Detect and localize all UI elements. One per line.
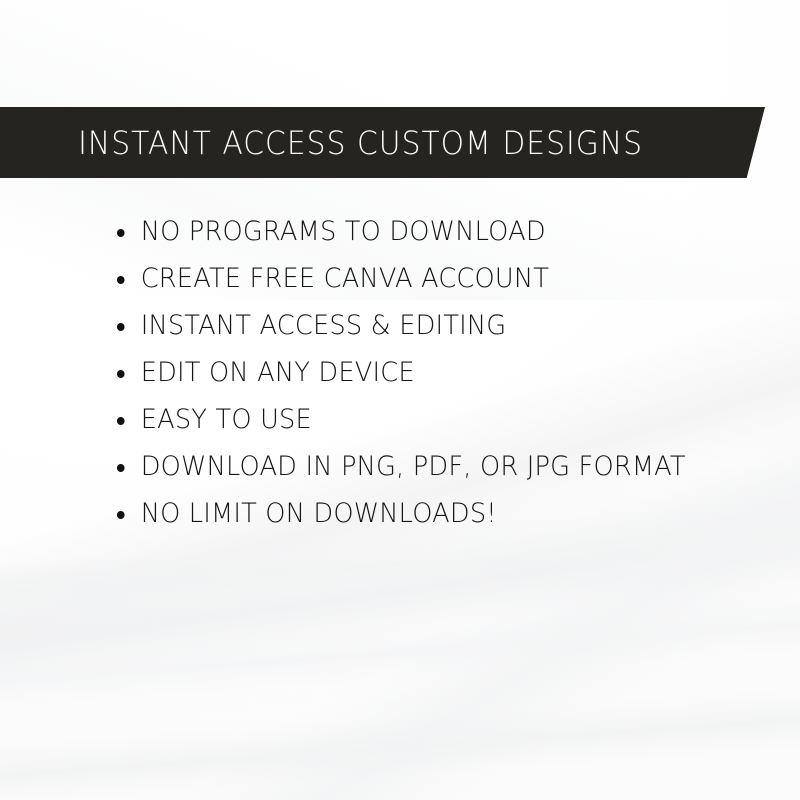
bullet-dot-icon	[117, 464, 125, 472]
list-item-label: EASY TO USE	[141, 402, 705, 438]
header-banner-title: INSTANT ACCESS CUSTOM DESIGNS	[0, 127, 643, 159]
list-item: DOWNLOAD IN PNG, PDF, OR JPG FORMAT	[116, 449, 705, 485]
bullet-dot-icon	[117, 370, 125, 378]
bullet-dot-icon	[117, 229, 125, 237]
list-item-label: NO PROGRAMS TO DOWNLOAD	[141, 214, 705, 250]
feature-list: NO PROGRAMS TO DOWNLOAD CREATE FREE CANV…	[116, 214, 736, 532]
header-banner: INSTANT ACCESS CUSTOM DESIGNS	[0, 107, 765, 178]
list-item-label: EDIT ON ANY DEVICE	[141, 355, 705, 391]
promo-graphic: INSTANT ACCESS CUSTOM DESIGNS NO PROGRAM…	[0, 0, 800, 800]
list-item-label: DOWNLOAD IN PNG, PDF, OR JPG FORMAT	[141, 449, 705, 485]
list-item: CREATE FREE CANVA ACCOUNT	[116, 261, 705, 297]
background-lower-bands	[0, 560, 800, 800]
list-item: EASY TO USE	[116, 402, 705, 438]
list-item-label: NO LIMIT ON DOWNLOADS!	[141, 496, 705, 532]
list-item: EDIT ON ANY DEVICE	[116, 355, 705, 391]
list-item: NO PROGRAMS TO DOWNLOAD	[116, 214, 705, 250]
bullet-dot-icon	[117, 417, 125, 425]
list-item: NO LIMIT ON DOWNLOADS!	[116, 496, 705, 532]
bullet-dot-icon	[117, 511, 125, 519]
bullet-dot-icon	[117, 276, 125, 284]
bullet-dot-icon	[117, 323, 125, 331]
list-item: INSTANT ACCESS & EDITING	[116, 308, 705, 344]
list-item-label: INSTANT ACCESS & EDITING	[141, 308, 705, 344]
list-item-label: CREATE FREE CANVA ACCOUNT	[141, 261, 705, 297]
